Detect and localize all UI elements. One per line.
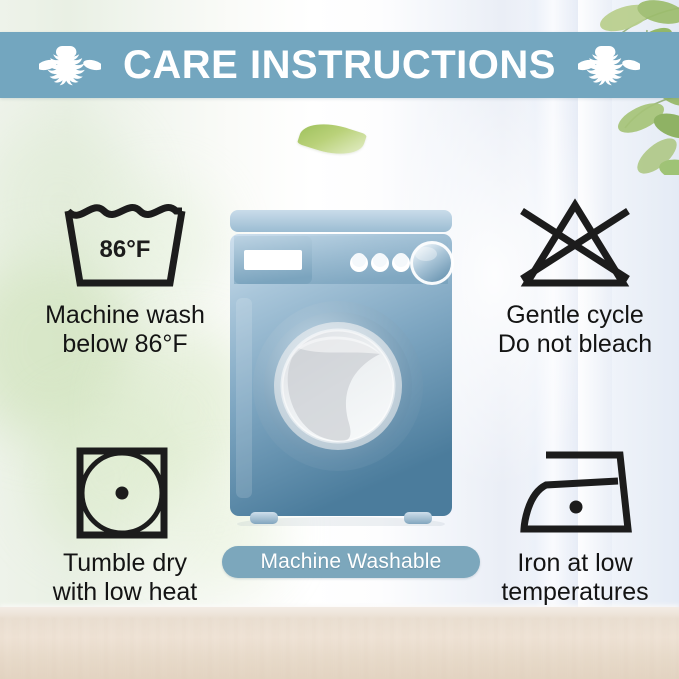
care-symbol-caption: Tumble dry with low heat bbox=[53, 549, 198, 607]
tumble-dry-low-icon bbox=[50, 443, 200, 543]
care-instructions-infographic: CARE INSTRUCTIONS 86°F Machine wash belo… bbox=[0, 0, 679, 679]
care-symbol-caption: Machine wash below 86°F bbox=[45, 301, 205, 359]
wash-tub-icon: 86°F bbox=[50, 195, 200, 295]
fleur-de-lis-icon bbox=[578, 43, 640, 87]
care-symbol-no-bleach: Gentle cycle Do not bleach bbox=[472, 195, 678, 359]
fleur-de-lis-icon bbox=[39, 43, 101, 87]
care-symbol-tumble-dry: Tumble dry with low heat bbox=[22, 443, 228, 607]
header-banner: CARE INSTRUCTIONS bbox=[0, 32, 679, 98]
badge-label: Machine Washable bbox=[260, 550, 441, 574]
front-load-washing-machine-illustration bbox=[228, 206, 454, 526]
triangle-crossed-out-icon bbox=[500, 195, 650, 295]
wash-temperature-value: 86°F bbox=[100, 236, 151, 263]
page-title: CARE INSTRUCTIONS bbox=[123, 45, 556, 85]
machine-washable-badge: Machine Washable bbox=[222, 546, 480, 578]
care-symbol-iron: Iron at low temperatures bbox=[472, 443, 678, 607]
wood-grain bbox=[0, 617, 679, 679]
care-symbol-caption: Gentle cycle Do not bleach bbox=[498, 301, 652, 359]
care-symbol-machine-wash: 86°F Machine wash below 86°F bbox=[22, 195, 228, 359]
iron-low-icon bbox=[500, 443, 650, 543]
care-symbol-caption: Iron at low temperatures bbox=[501, 549, 648, 607]
